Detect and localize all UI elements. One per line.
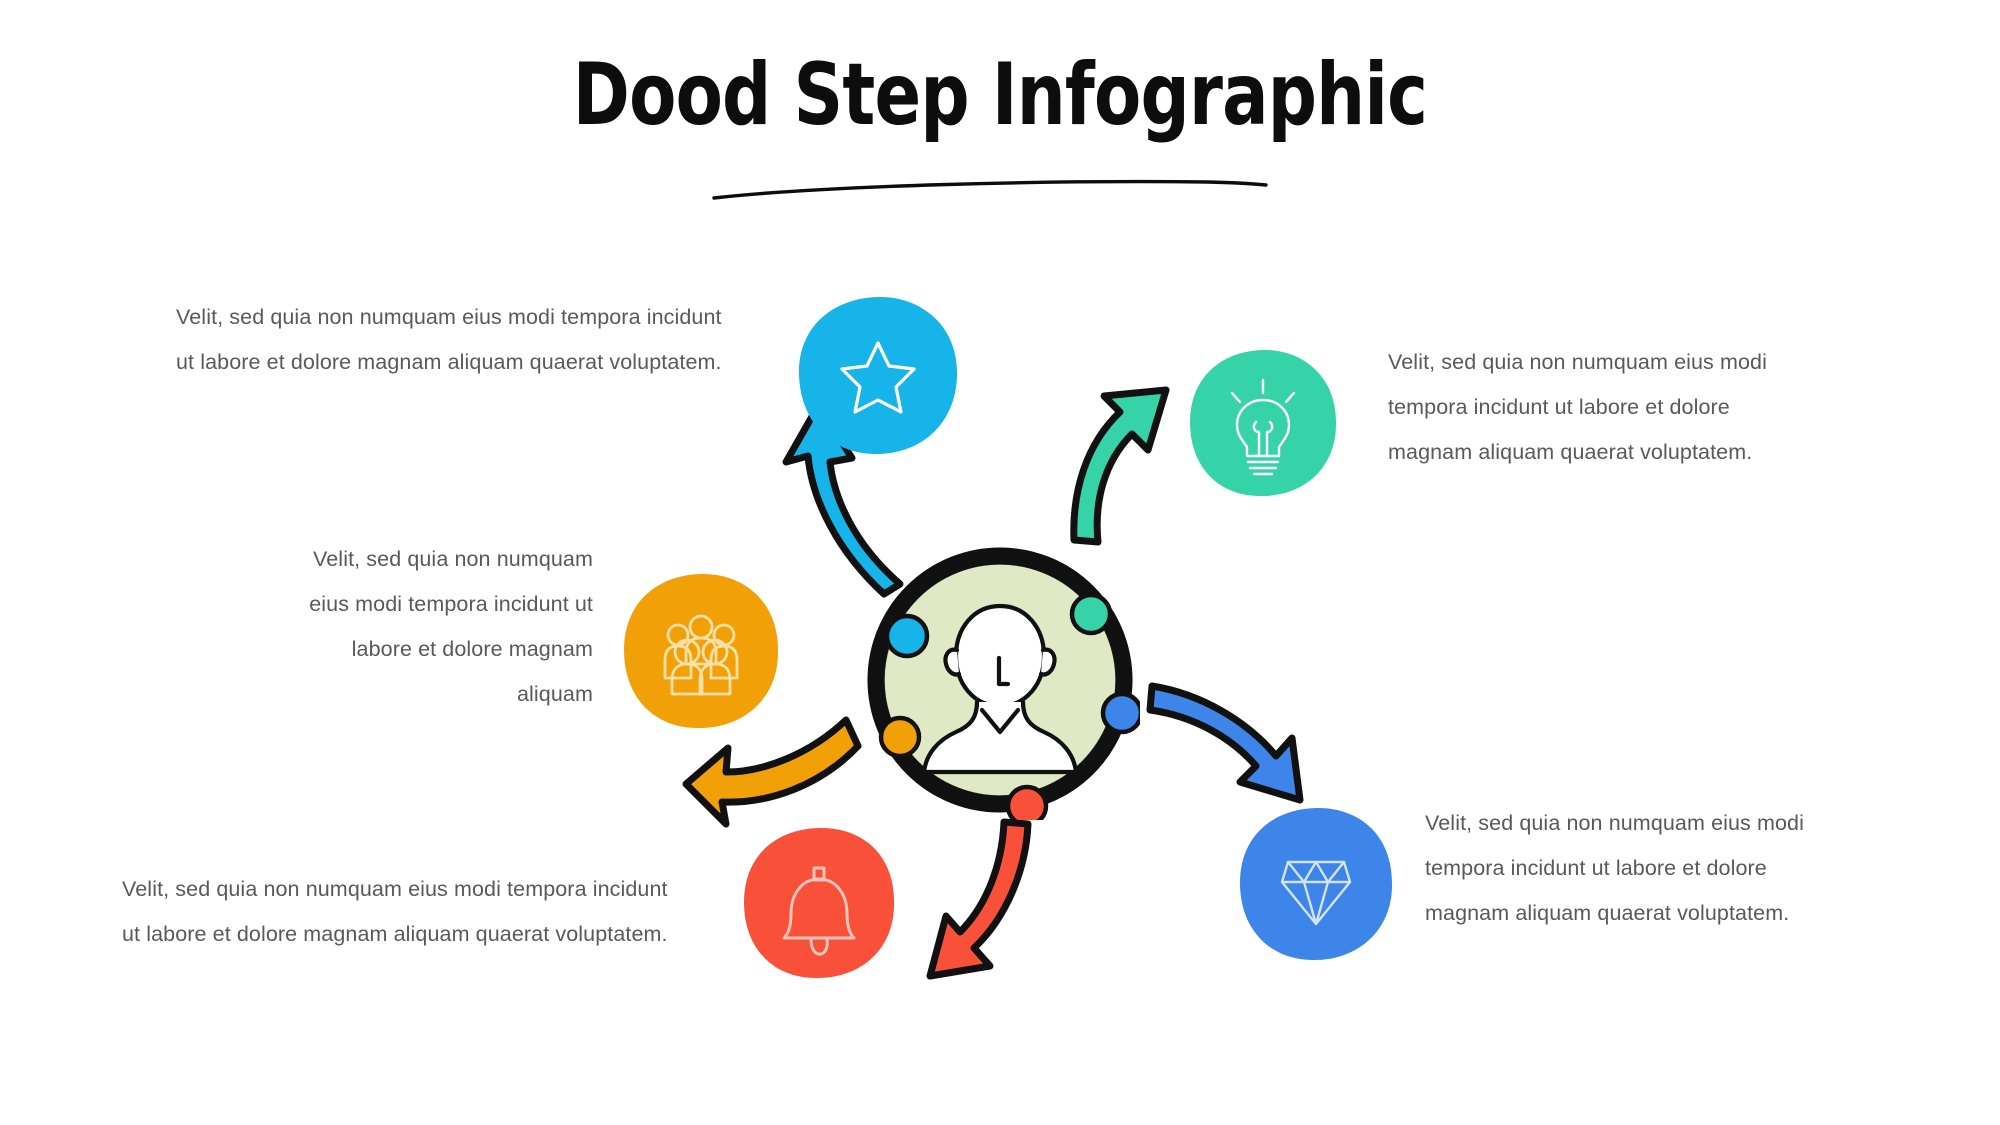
- text-block-people: Velit, sed quia non numquam eius modi te…: [258, 537, 593, 717]
- text-block-diamond: Velit, sed quia non numquam eius modi te…: [1425, 801, 1845, 936]
- node-diamond-bg: [1238, 806, 1394, 962]
- node-bell-bg: [742, 826, 896, 980]
- dot-teal-icon[interactable]: [1072, 595, 1110, 633]
- arrow-to-people-icon: [686, 720, 858, 824]
- text-block-bell: Velit, sed quia non numquam eius modi te…: [122, 867, 722, 957]
- node-diamond[interactable]: [1238, 806, 1394, 962]
- node-star-bg: [798, 295, 958, 455]
- arrow-to-bell-icon: [930, 822, 1028, 976]
- dot-cyan-icon[interactable]: [887, 616, 927, 656]
- dot-orange-icon[interactable]: [881, 718, 919, 756]
- dot-blue-icon[interactable]: [1103, 694, 1140, 732]
- title-underline-doodle: [710, 178, 1270, 204]
- node-bell[interactable]: [742, 826, 896, 980]
- arrow-to-bulb-icon: [1074, 390, 1166, 542]
- dot-red-icon[interactable]: [1008, 787, 1046, 820]
- text-block-star: Velit, sed quia non numquam eius modi te…: [176, 295, 776, 385]
- center-hub: [860, 540, 1140, 820]
- node-people-bg: [622, 572, 780, 730]
- page-title: Dood Step Infographic: [573, 52, 1427, 138]
- title-block: Dood Step Infographic: [0, 52, 2000, 138]
- arrow-to-diamond-icon: [1150, 686, 1300, 800]
- node-lightbulb[interactable]: [1188, 348, 1338, 498]
- node-people[interactable]: [622, 572, 780, 730]
- text-block-lightbulb: Velit, sed quia non numquam eius modi te…: [1388, 340, 1808, 475]
- node-bulb-bg: [1188, 348, 1338, 498]
- node-star[interactable]: [798, 295, 958, 455]
- infographic-canvas: Dood Step Infographic: [0, 0, 2000, 1125]
